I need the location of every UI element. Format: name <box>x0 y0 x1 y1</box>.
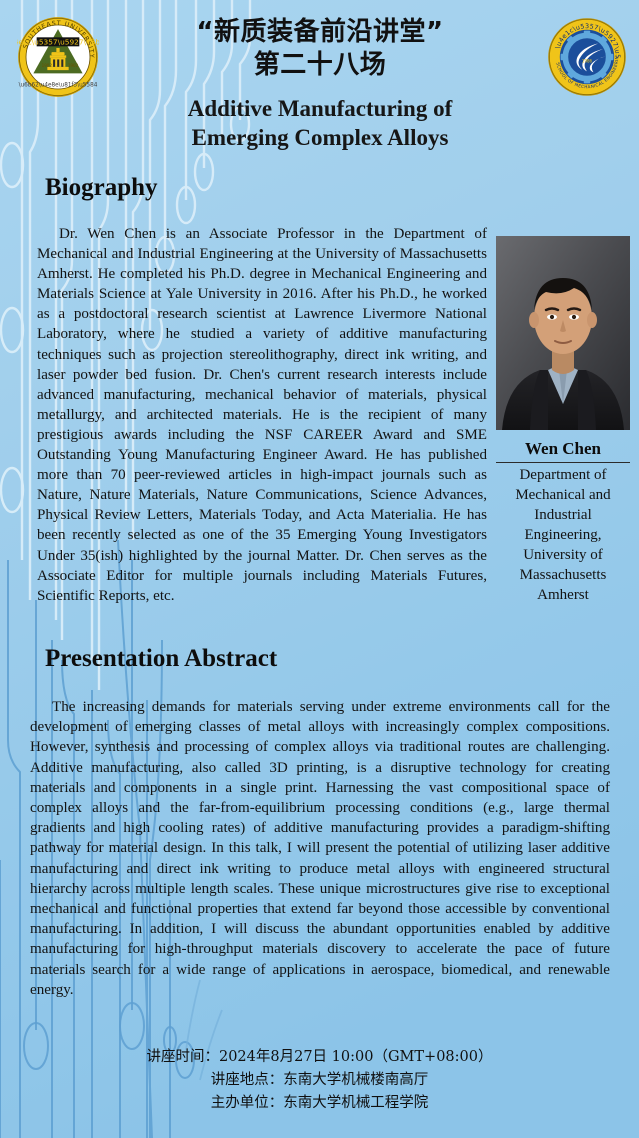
poster-root: \u4e1c\u5357\u5927\u5b66 \u6b62\u4e8e\u8… <box>0 0 639 1138</box>
abstract-body: The increasing demands for materials ser… <box>30 697 610 1000</box>
speaker-affiliation: Department of Mechanical and Industrial … <box>496 465 630 605</box>
abstract-heading: Presentation Abstract <box>45 645 277 673</box>
southeast-university-logo-icon: \u4e1c\u5357\u5927\u5b66 \u6b62\u4e8e\u8… <box>17 16 99 98</box>
speaker-photo <box>496 236 630 430</box>
event-organizer: 主办单位：东南大学机械工程学院 <box>0 1092 639 1115</box>
english-talk-title: Additive Manufacturing of Emerging Compl… <box>110 94 530 152</box>
event-location: 讲座地点：东南大学机械楼南高厅 <box>0 1069 639 1092</box>
chinese-series-title-line2: 第二十八场 <box>110 49 530 82</box>
chinese-series-title: “新质装备前沿讲堂” 第二十八场 <box>110 16 530 82</box>
biography-heading: Biography <box>45 174 158 202</box>
speaker-name: Wen Chen <box>496 439 630 459</box>
svg-text:1986: 1986 <box>582 59 593 64</box>
biography-body: Dr. Wen Chen is an Associate Professor i… <box>37 224 487 606</box>
event-time: 讲座时间：2024年8月27日 10:00（GMT+08:00） <box>0 1046 639 1069</box>
title-block: “新质装备前沿讲堂” 第二十八场 Additive Manufacturing … <box>110 16 530 152</box>
chinese-series-title-line1: “新质装备前沿讲堂” <box>110 16 530 49</box>
poster-header: \u4e1c\u5357\u5927\u5b66 \u6b62\u4e8e\u8… <box>0 0 639 172</box>
speaker-panel: Wen Chen Department of Mechanical and In… <box>496 236 630 605</box>
svg-text:1902: 1902 <box>68 63 79 68</box>
svg-text:\u6b62\u4e8e\u81f3\u5584: \u6b62\u4e8e\u81f3\u5584 <box>19 83 98 89</box>
school-of-mechanical-engineering-logo-icon: 1986 \u4e1c\u5357\u5927\u5b66\u673a\u68b… <box>547 17 627 97</box>
svg-text:1902: 1902 <box>42 63 53 68</box>
english-talk-title-line1: Additive Manufacturing of <box>110 94 530 123</box>
english-talk-title-line2: Emerging Complex Alloys <box>110 123 530 152</box>
speaker-name-divider <box>496 462 630 463</box>
event-details: 讲座时间：2024年8月27日 10:00（GMT+08:00） 讲座地点：东南… <box>0 1046 639 1115</box>
